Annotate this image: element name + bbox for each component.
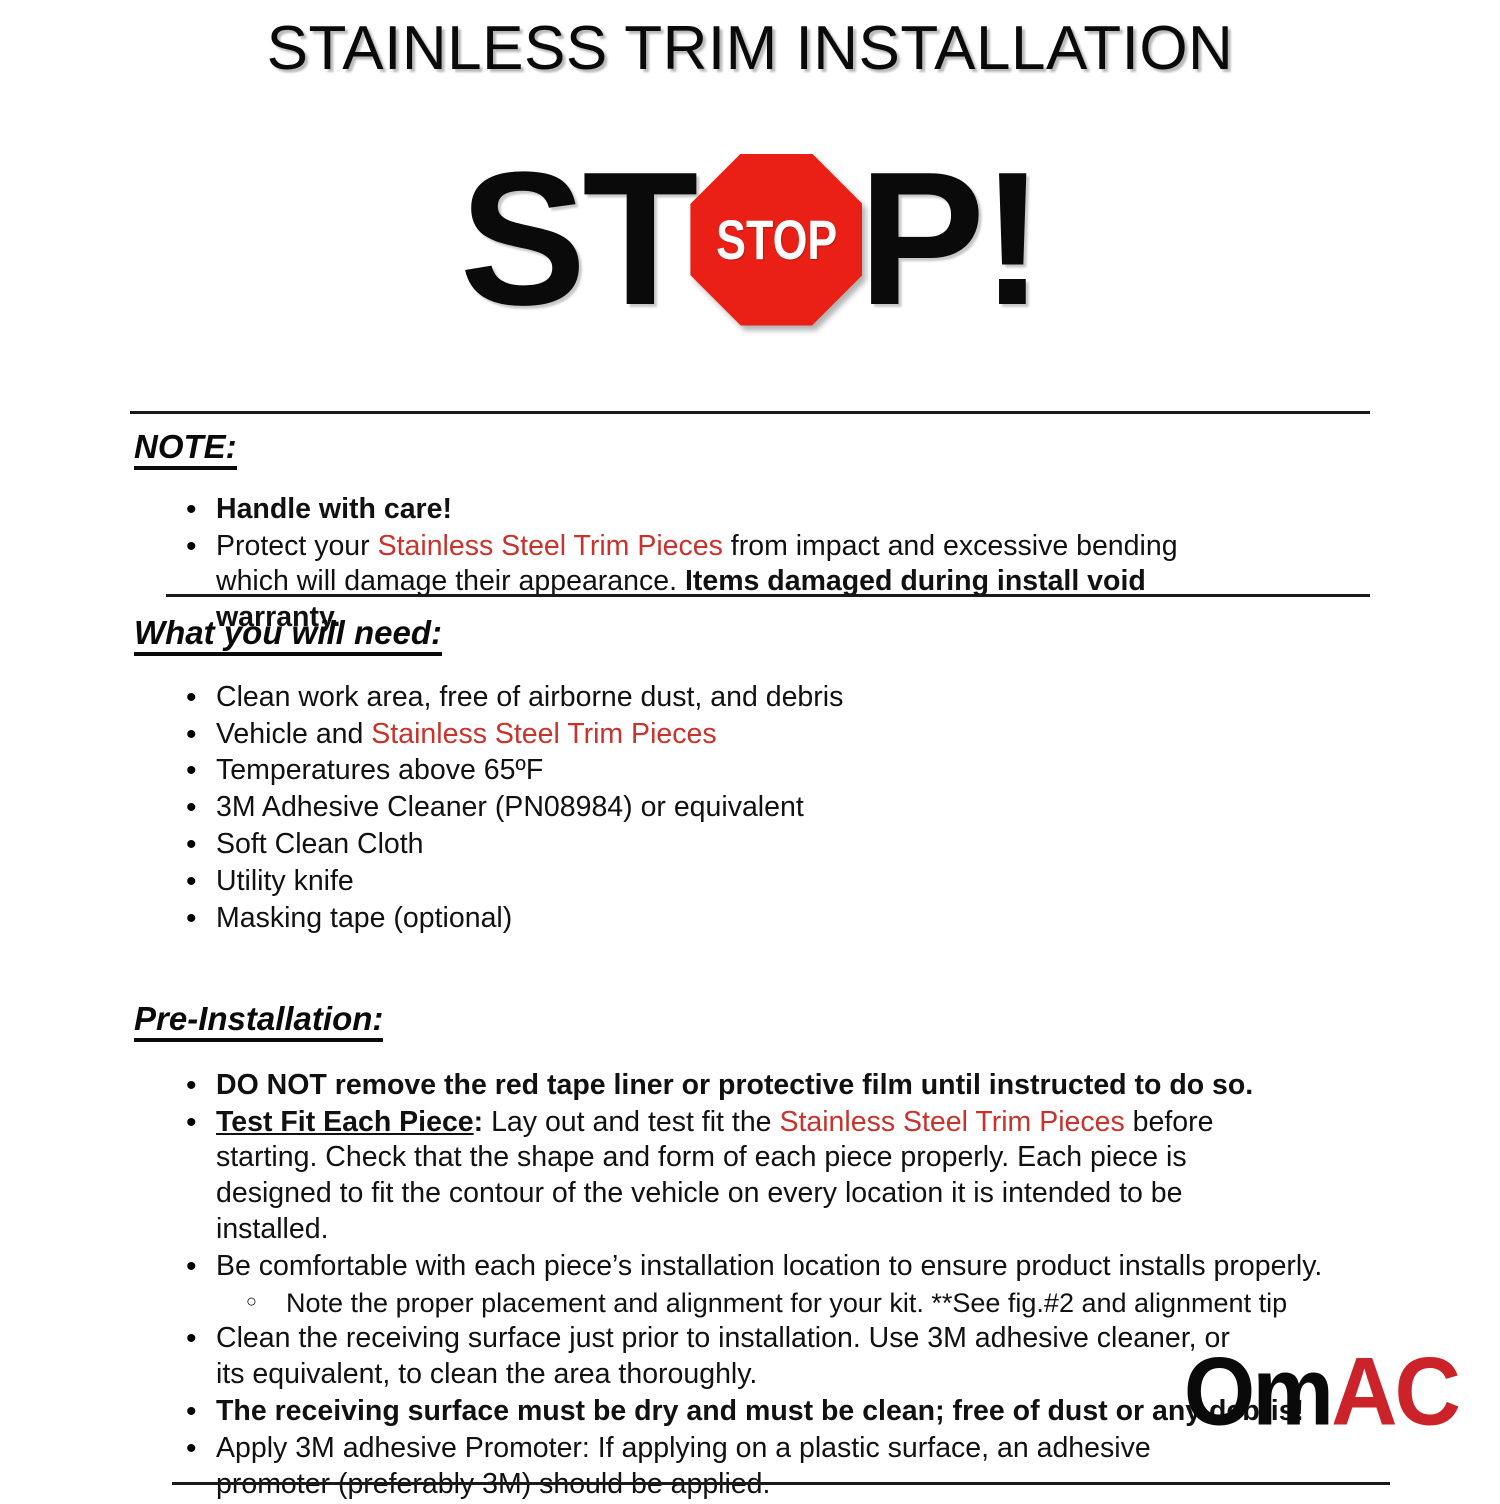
divider-top (130, 411, 1370, 414)
list-item: Temperatures above 65ºF (134, 753, 1374, 789)
preinstall-item-highlight: Stainless Steel Trim Pieces (779, 1106, 1124, 1138)
list-item: DO NOT remove the red tape liner or prot… (134, 1068, 1384, 1104)
list-item: Clean the receiving surface just prior t… (134, 1321, 1244, 1393)
needs-section: What you will need: Clean work area, fre… (134, 616, 1374, 938)
list-item: Masking tape (optional) (134, 901, 1374, 937)
note-section: NOTE: Handle with care! Protect your Sta… (134, 430, 1374, 637)
list-item: Apply 3M adhesive Promoter: If applying … (134, 1431, 1254, 1503)
preinstall-item-text: Lay out and test fit the (491, 1106, 779, 1138)
list-item: Be comfortable with each piece’s install… (134, 1249, 1384, 1285)
needs-item-text: Clean work area, free of airborne dust, … (216, 681, 843, 713)
needs-heading: What you will need: (134, 616, 442, 656)
preinstall-item-colon: : (474, 1106, 491, 1138)
needs-item-text: Soft Clean Cloth (216, 828, 424, 860)
list-item: Test Fit Each Piece: Lay out and test fi… (134, 1105, 1272, 1249)
omac-logo-accent: AC (1331, 1338, 1458, 1445)
needs-item-text: Temperatures above 65ºF (216, 754, 543, 786)
list-item: Soft Clean Cloth (134, 827, 1374, 863)
note-heading: NOTE: (134, 430, 237, 470)
needs-bullet-list: Clean work area, free of airborne dust, … (134, 680, 1374, 937)
stop-logo-left-letters: ST (460, 160, 695, 320)
page-title: STAINLESS TRIM INSTALLATION (0, 0, 1500, 80)
divider-bottom (172, 1482, 1390, 1485)
omac-logo-primary: Om (1184, 1338, 1331, 1445)
list-item: Clean work area, free of airborne dust, … (134, 680, 1374, 716)
preinstall-item-text: DO NOT remove the red tape liner or prot… (216, 1069, 1253, 1101)
stop-logo: ST STOP P! (0, 152, 1500, 327)
divider-note-bottom (166, 594, 1370, 597)
preinstall-item-lead: Test Fit Each Piece (216, 1106, 474, 1138)
omac-logo: OmAC (1184, 1344, 1458, 1441)
note-item-highlight: Stainless Steel Trim Pieces (378, 530, 723, 562)
note-item-text: Handle with care! (216, 493, 452, 525)
installation-instruction-sheet: STAINLESS TRIM INSTALLATION ST STOP P! N… (0, 0, 1500, 1500)
stop-sign-octagon: STOP (690, 154, 862, 326)
list-item: 3M Adhesive Cleaner (PN08984) or equival… (134, 790, 1374, 826)
needs-item-text: Vehicle and (216, 718, 371, 750)
preinstall-item-text: Apply 3M adhesive Promoter: If applying … (216, 1432, 1151, 1500)
preinstall-subitem-text: Note the proper placement and alignment … (286, 1288, 1287, 1318)
needs-item-text: 3M Adhesive Cleaner (PN08984) or equival… (216, 791, 804, 823)
list-item-sub: Note the proper placement and alignment … (134, 1286, 1384, 1320)
preinstall-item-text: The receiving surface must be dry and mu… (216, 1395, 1304, 1427)
preinstall-heading: Pre-Installation: (134, 1002, 383, 1042)
stop-sign-label: STOP (716, 212, 837, 268)
needs-item-text: Utility knife (216, 865, 354, 897)
stop-sign-icon: STOP (690, 154, 862, 326)
preinstall-item-text: Be comfortable with each piece’s install… (216, 1250, 1322, 1282)
needs-item-highlight: Stainless Steel Trim Pieces (371, 718, 716, 750)
list-item: Vehicle and Stainless Steel Trim Pieces (134, 717, 1374, 753)
preinstall-item-text: Clean the receiving surface just prior t… (216, 1322, 1230, 1390)
stop-logo-right-letters: P! (858, 160, 1040, 320)
list-item: Utility knife (134, 864, 1374, 900)
needs-item-text: Masking tape (optional) (216, 902, 512, 934)
list-item: Handle with care! (134, 492, 1374, 528)
note-item-text: Protect your (216, 530, 378, 562)
